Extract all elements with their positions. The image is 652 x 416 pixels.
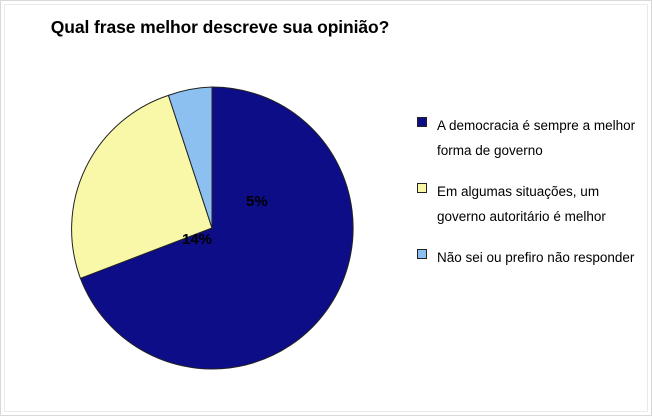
pie-svg <box>70 86 354 370</box>
pie-label-democracia: 81% <box>322 396 352 411</box>
legend-swatch-lightblue-icon <box>417 249 427 259</box>
legend-swatch-yellow-icon <box>417 183 427 193</box>
legend-label-democracia: A democracia é sempre a melhor forma de … <box>437 113 642 163</box>
pie-label-nao-sei: 5% <box>246 194 268 209</box>
legend-label-autoritario: Em algumas situações, um governo autorit… <box>437 179 642 229</box>
legend-swatch-navy-icon <box>417 117 427 127</box>
chart-title: Qual frase melhor descreve sua opinião? <box>0 17 440 38</box>
pie-chart-screenshot: Qual frase melhor descreve sua opinião? … <box>0 0 652 416</box>
legend-item-autoritario[interactable]: Em algumas situações, um governo autorit… <box>417 179 642 229</box>
legend-item-democracia[interactable]: A democracia é sempre a melhor forma de … <box>417 113 642 163</box>
chart-legend: A democracia é sempre a melhor forma de … <box>417 113 642 286</box>
legend-label-nao-sei: Não sei ou prefiro não responder <box>437 245 642 270</box>
pie-label-autoritario: 14% <box>182 232 212 247</box>
pie-graphic: 81% 14% 5% <box>70 86 354 370</box>
legend-item-nao-sei[interactable]: Não sei ou prefiro não responder <box>417 245 642 270</box>
